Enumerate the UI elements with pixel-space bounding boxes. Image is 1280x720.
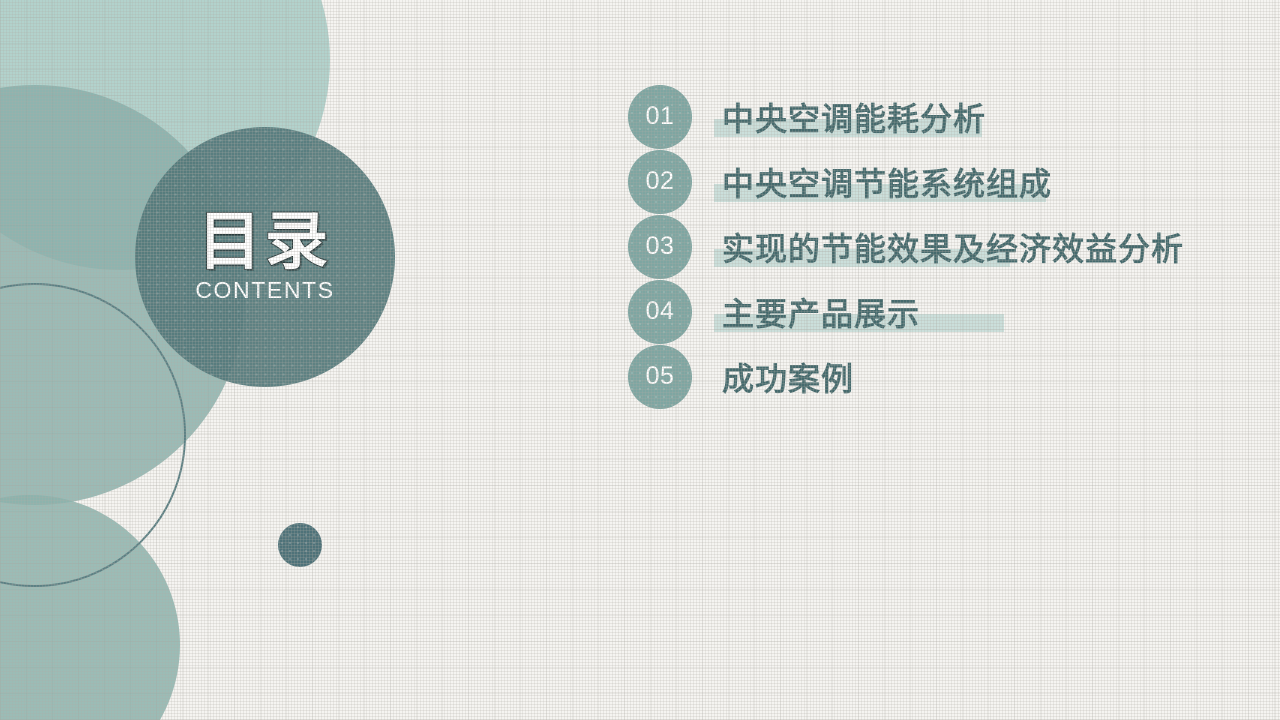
item-label: 中央空调能耗分析 (722, 101, 986, 137)
item-label-wrap: 中央空调节能系统组成 (722, 159, 1052, 205)
item-label-wrap: 主要产品展示 (722, 289, 920, 335)
item-label: 实现的节能效果及经济效益分析 (722, 231, 1184, 267)
title-block: 目录 CONTENTS (135, 127, 395, 387)
item-number-badge: 02 (628, 150, 692, 214)
item-number-badge: 01 (628, 85, 692, 149)
item-label-wrap: 成功案例 (722, 354, 854, 400)
item-label: 主要产品展示 (722, 296, 920, 332)
item-label: 成功案例 (722, 361, 854, 397)
list-item[interactable]: 01 中央空调能耗分析 (628, 84, 1268, 149)
list-item[interactable]: 03 实现的节能效果及经济效益分析 (628, 214, 1268, 279)
item-number: 01 (646, 102, 675, 131)
item-number-badge: 05 (628, 345, 692, 409)
page-title: 目录 (198, 210, 332, 274)
item-number: 02 (646, 167, 675, 196)
list-item[interactable]: 05 成功案例 (628, 344, 1268, 409)
item-number-badge: 04 (628, 280, 692, 344)
item-label: 中央空调节能系统组成 (722, 166, 1052, 202)
small-dot-decoration (278, 523, 322, 567)
slide-canvas: 目录 CONTENTS 01 中央空调能耗分析 02 中央空调节能系统组成 (0, 0, 1280, 720)
item-number: 04 (646, 297, 675, 326)
list-item[interactable]: 04 主要产品展示 (628, 279, 1268, 344)
item-number-badge: 03 (628, 215, 692, 279)
page-subtitle: CONTENTS (195, 277, 334, 304)
item-number: 05 (646, 362, 675, 391)
list-item[interactable]: 02 中央空调节能系统组成 (628, 149, 1268, 214)
item-number: 03 (646, 232, 675, 261)
item-label-wrap: 实现的节能效果及经济效益分析 (722, 224, 1184, 270)
contents-list: 01 中央空调能耗分析 02 中央空调节能系统组成 03 实现的节能效果及经济效… (628, 84, 1268, 409)
item-label-wrap: 中央空调能耗分析 (722, 94, 986, 140)
